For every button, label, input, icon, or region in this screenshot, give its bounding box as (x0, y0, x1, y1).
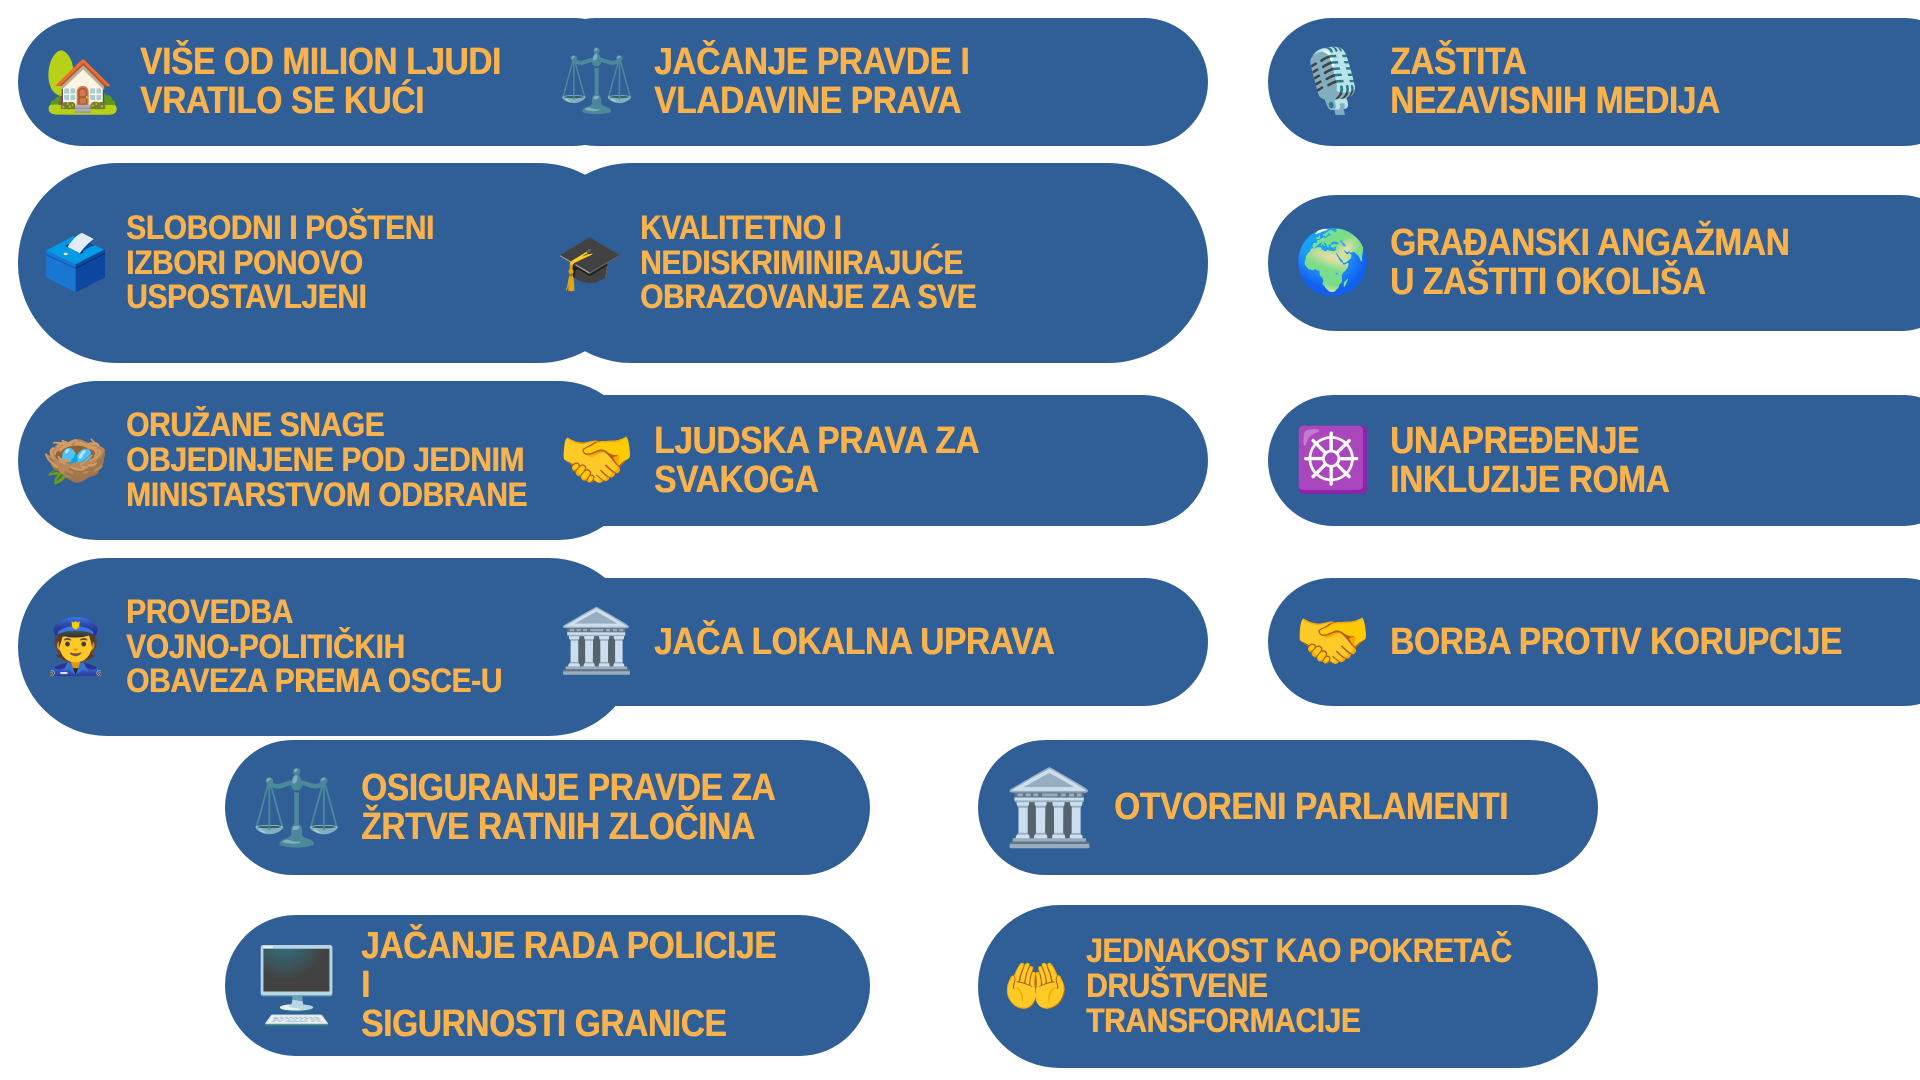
card-jaca-lokalna-uprava[interactable]: 🏛️ JAČA LOKALNA UPRAVA (532, 578, 1208, 706)
card-label: BORBA PROTIV KORUPCIJE (1390, 623, 1842, 662)
police-cap-icon: 👮 (40, 611, 112, 683)
scales-of-justice-icon: ⚖️ (247, 758, 347, 858)
soldiers-saluting-icon: 🪺 (40, 425, 112, 497)
card-label: SLOBODNI I POŠTENI IZBORI PONOVO USPOSTA… (126, 211, 434, 315)
card-ljudska-prava[interactable]: 🤝 LJUDSKA PRAVA ZA SVAKOGA (532, 395, 1208, 526)
card-label: ZAŠTITA NEZAVISNIH MEDIJA (1390, 43, 1720, 121)
parliament-building-icon: 🏛️ (1000, 758, 1100, 858)
card-kvalitetno-obrazovanje[interactable]: 🎓 KVALITETNO I NEDISKRIMINIRAJUĆE OBRAZO… (532, 163, 1208, 363)
card-jacanje-pravde[interactable]: ⚖️ JAČANJE PRAVDE I VLADAVINE PRAVA (532, 18, 1208, 146)
card-otvoreni-parlamenti[interactable]: 🏛️ OTVORENI PARLAMENTI (978, 740, 1598, 875)
card-label: GRAĐANSKI ANGAŽMAN U ZAŠTITI OKOLIŠA (1390, 224, 1789, 302)
graduation-books-icon: 🎓 (554, 227, 626, 299)
card-osiguranje-pravde-za-zrtve[interactable]: ⚖️ OSIGURANJE PRAVDE ZA ŽRTVE RATNIH ZLO… (225, 740, 870, 875)
card-label: JAČANJE RADA POLICIJE I SIGURNOSTI GRANI… (361, 927, 786, 1043)
equality-hands-icon: 🤲 (1000, 951, 1072, 1023)
card-label: LJUDSKA PRAVA ZA SVAKOGA (654, 422, 979, 500)
courtroom-bench-icon: ⚖️ (554, 39, 640, 125)
ballot-box-voter-icon: 🗳️ (40, 227, 112, 299)
card-borba-protiv-korupcije[interactable]: 🤝 BORBA PROTIV KORUPCIJE (1268, 578, 1920, 706)
card-jacanje-rada-policije[interactable]: 🖥️ JAČANJE RADA POLICIJE I SIGURNOSTI GR… (225, 915, 870, 1056)
house-icon: 🏡 (40, 39, 126, 125)
card-gradanski-angazman[interactable]: 🌍 GRAĐANSKI ANGAŽMAN U ZAŠTITI OKOLIŠA (1268, 195, 1920, 331)
card-zastita-nezavisnih-medija[interactable]: 🎙️ ZAŠTITA NEZAVISNIH MEDIJA (1268, 18, 1920, 146)
card-label: ORUŽANE SNAGE OBJEDINJENE POD JEDNIM MIN… (126, 408, 527, 512)
card-label: JEDNAKOST KAO POKRETAČ DRUŠTVENE TRANSFO… (1086, 934, 1512, 1038)
card-unaprijedenje-inkluzije-roma[interactable]: ☸️ UNAPREĐENJE INKLUZIJE ROMA (1268, 395, 1920, 526)
card-label: JAČANJE PRAVDE I VLADAVINE PRAVA (654, 43, 969, 121)
roma-wheel-icon: ☸️ (1290, 418, 1376, 504)
infographic-board: 🏡 VIŠE OD MILION LJUDI VRATILO SE KUĆI ⚖… (0, 0, 1920, 1080)
card-label: KVALITETNO I NEDISKRIMINIRAJUĆE OBRAZOVA… (640, 211, 976, 315)
people-circle-icon: 🤝 (554, 418, 640, 504)
card-jednakost-kao-pokretac[interactable]: 🤲 JEDNAKOST KAO POKRETAČ DRUŠTVENE TRANS… (978, 905, 1598, 1068)
press-microphones-icon: 🎙️ (1290, 39, 1376, 125)
card-label: VIŠE OD MILION LJUDI VRATILO SE KUĆI (140, 43, 501, 121)
government-building-icon: 🏛️ (554, 599, 640, 685)
card-label: OTVORENI PARLAMENTI (1114, 788, 1508, 827)
card-label: PROVEDBA VOJNO-POLITIČKIH OBAVEZA PREMA … (126, 595, 502, 699)
card-label: UNAPREĐENJE INKLUZIJE ROMA (1390, 422, 1669, 500)
handshake-envelope-icon: 🤝 (1290, 599, 1376, 685)
card-label: OSIGURANJE PRAVDE ZA ŽRTVE RATNIH ZLOČIN… (361, 769, 775, 847)
checklist-monitor-icon: 🖥️ (247, 936, 347, 1036)
card-label: JAČA LOKALNA UPRAVA (654, 623, 1054, 662)
hands-holding-earth-icon: 🌍 (1290, 220, 1376, 306)
